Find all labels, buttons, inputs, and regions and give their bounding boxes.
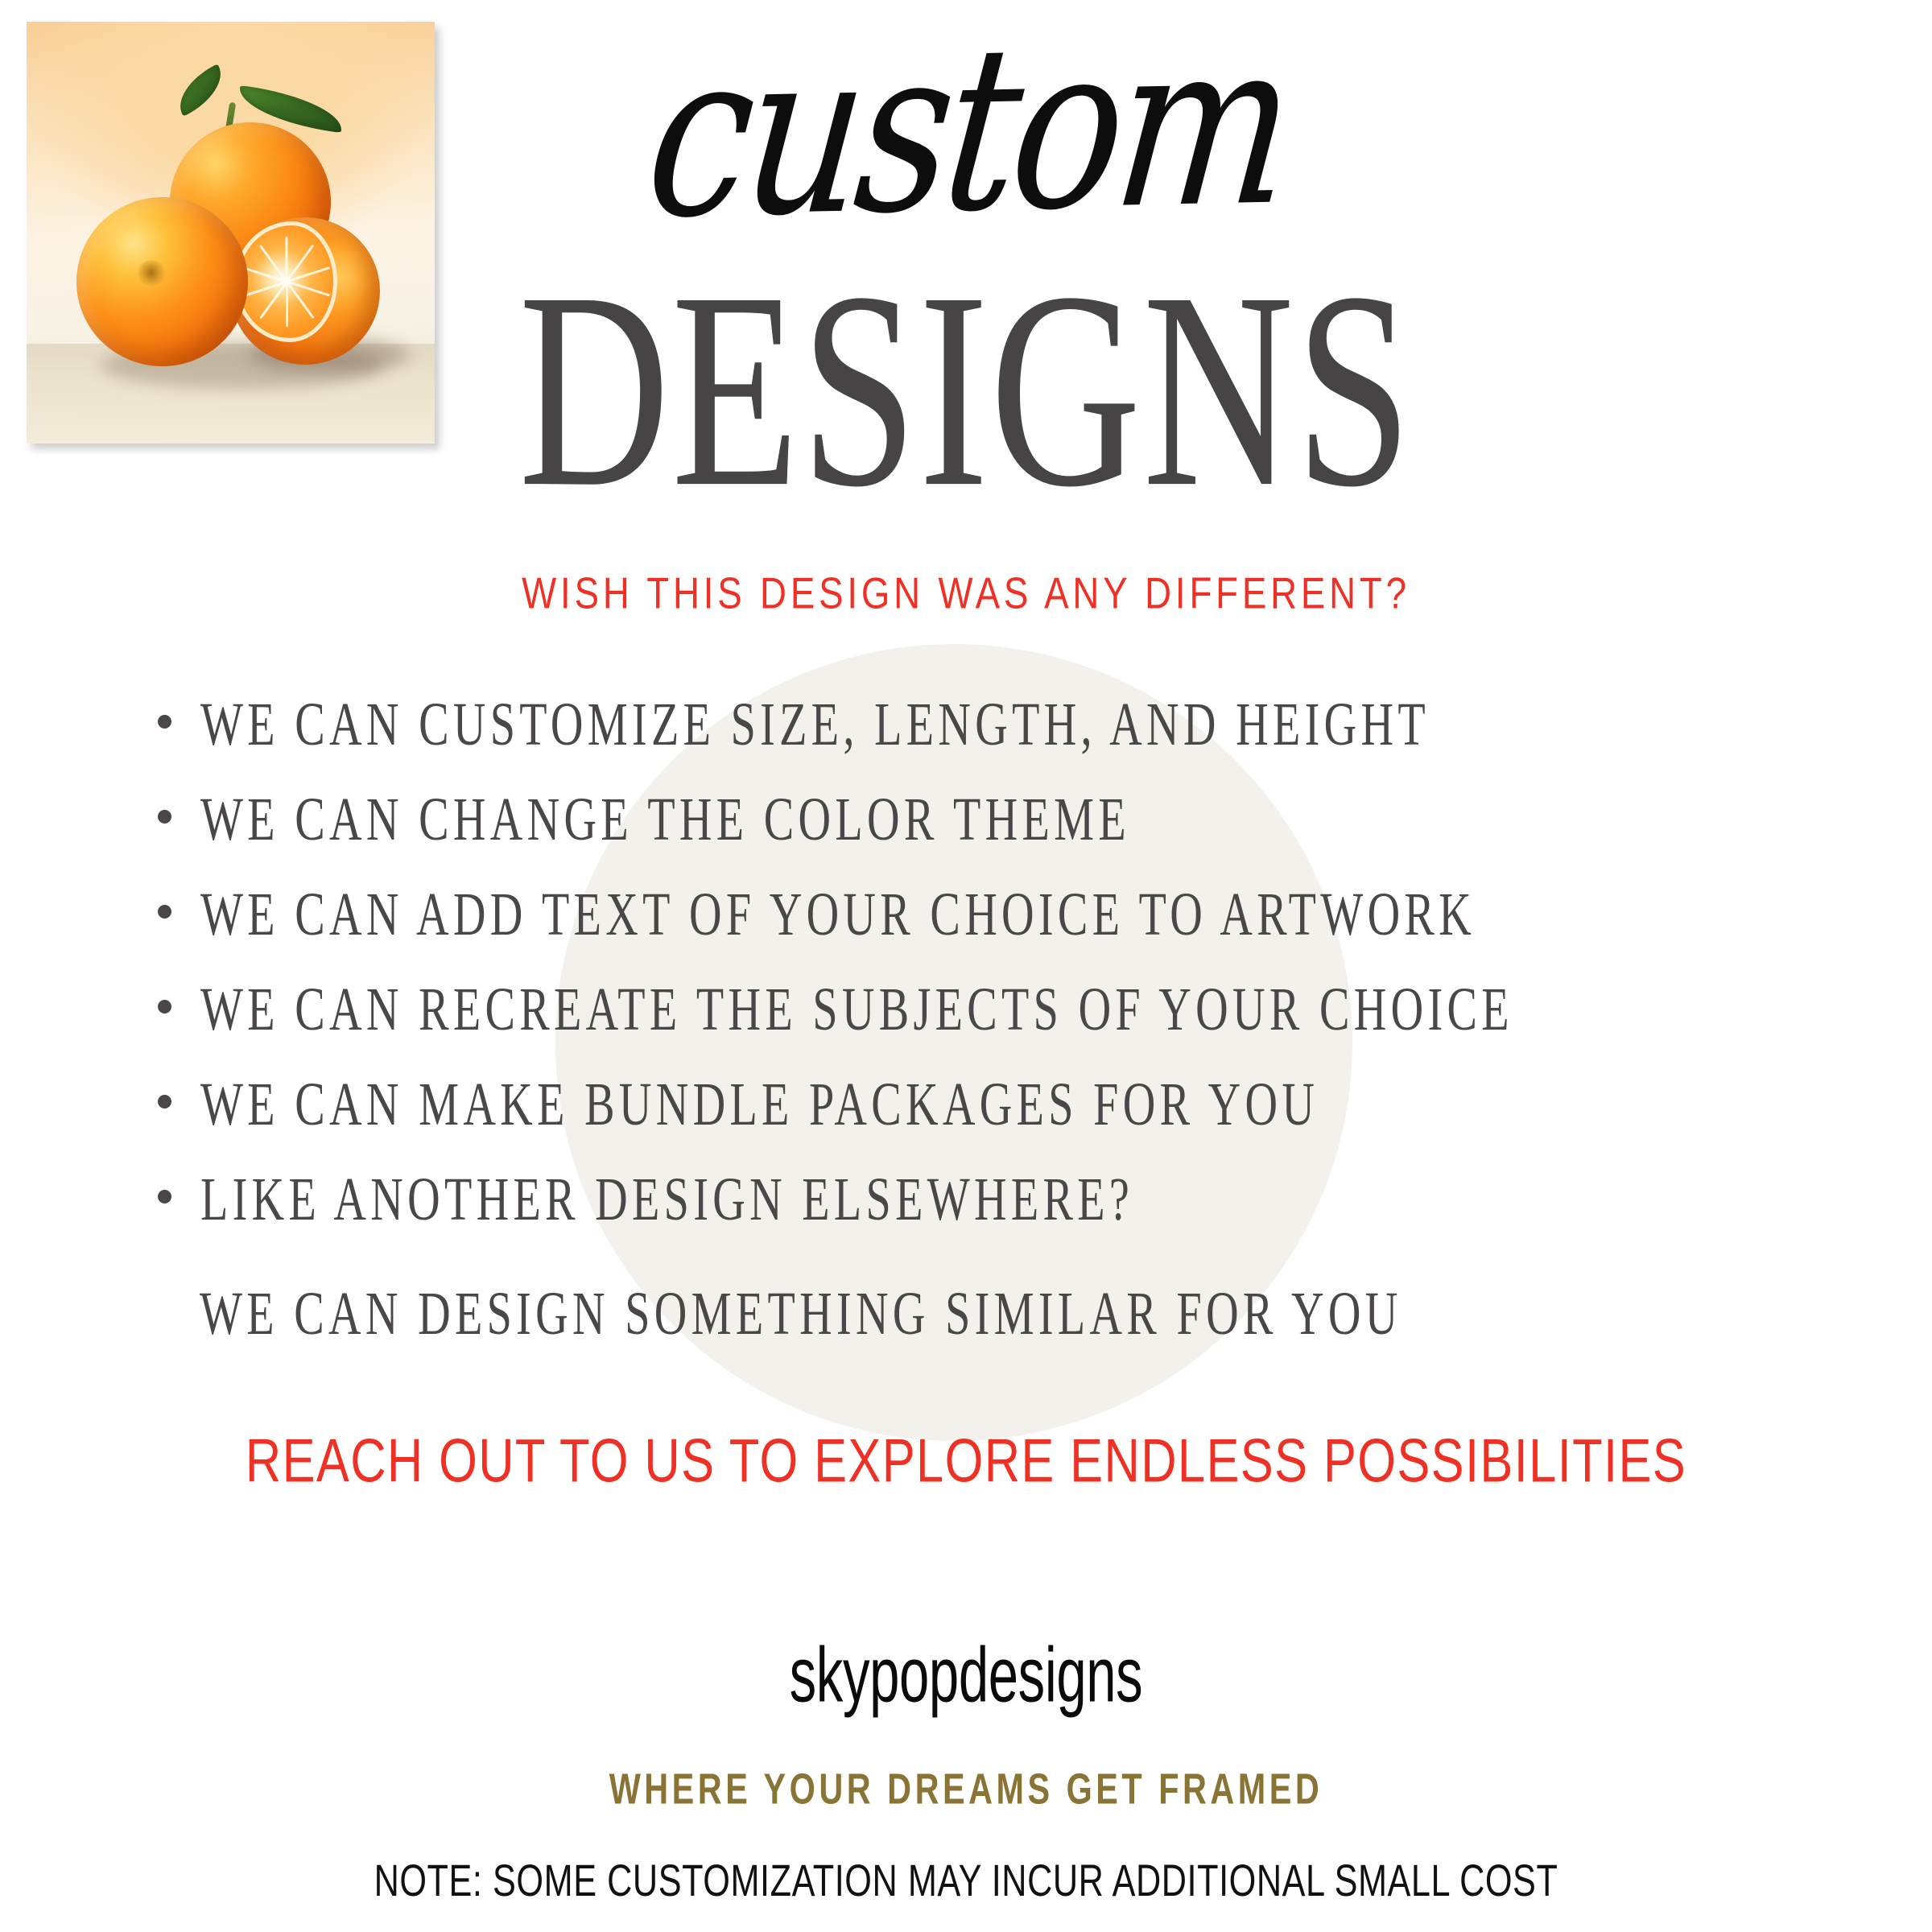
- orange-whole-front: [76, 197, 248, 366]
- feature-label: WE CAN RECREATE THE SUBJECTS OF YOUR CHO…: [200, 980, 1513, 1041]
- headline-group: custom DESIGNS: [451, 48, 1481, 493]
- leaf-icon-left: [169, 64, 232, 116]
- feature-label: WE CAN CUSTOMIZE SIZE, LENGTH, AND HEIGH…: [200, 695, 1430, 756]
- list-item: WE CAN CUSTOMIZE SIZE, LENGTH, AND HEIGH…: [158, 702, 1824, 748]
- feature-label: WE CAN ADD TEXT OF YOUR CHOICE TO ARTWOR…: [200, 885, 1476, 946]
- bullet-dot-icon: [158, 905, 171, 919]
- orange-fruit-painting-icon: [27, 22, 435, 444]
- feature-label: WE CAN CHANGE THE COLOR THEME: [200, 790, 1130, 851]
- sub-tagline: WISH THIS DESIGN WAS ANY DIFFERENT?: [29, 568, 1903, 619]
- list-item: WE CAN CHANGE THE COLOR THEME: [158, 797, 1824, 843]
- artwork-thumbnail[interactable]: [27, 22, 435, 444]
- bullet-dot-icon: [158, 1095, 171, 1108]
- list-item: LIKE ANOTHER DESIGN ELSEWHERE?: [158, 1177, 1824, 1223]
- cta-line: REACH OUT TO US TO EXPLORE ENDLESS POSSI…: [10, 1426, 1922, 1496]
- brand-slogan: WHERE YOUR DREAMS GET FRAMED: [97, 1764, 1835, 1814]
- footer-note: NOTE: SOME CUSTOMIZATION MAY INCUR ADDIT…: [77, 1854, 1855, 1906]
- brand-name: skypopdesigns: [213, 1631, 1719, 1720]
- bullet-dot-icon: [158, 810, 171, 824]
- page-title: DESIGNS: [466, 255, 1466, 524]
- bullet-dot-icon: [158, 715, 171, 729]
- list-item: WE CAN MAKE BUNDLE PACKAGES FOR YOU: [158, 1082, 1824, 1128]
- bullet-dot-icon: [158, 1190, 171, 1203]
- list-item: WE CAN ADD TEXT OF YOUR CHOICE TO ARTWOR…: [158, 892, 1824, 938]
- bullet-dot-icon: [158, 1000, 171, 1013]
- orange-cut-flesh: [234, 221, 337, 342]
- feature-continuation-label: WE CAN DESIGN SOMETHING SIMILAR FOR YOU: [200, 1284, 1402, 1345]
- feature-list: WE CAN CUSTOMIZE SIZE, LENGTH, AND HEIGH…: [158, 702, 1824, 1272]
- list-item: WE CAN RECREATE THE SUBJECTS OF YOUR CHO…: [158, 987, 1824, 1033]
- feature-label: WE CAN MAKE BUNDLE PACKAGES FOR YOU: [200, 1075, 1319, 1136]
- feature-label: LIKE ANOTHER DESIGN ELSEWHERE?: [200, 1170, 1133, 1231]
- page-title-script: custom: [452, 15, 1485, 246]
- orange-navel-detail: [138, 260, 165, 286]
